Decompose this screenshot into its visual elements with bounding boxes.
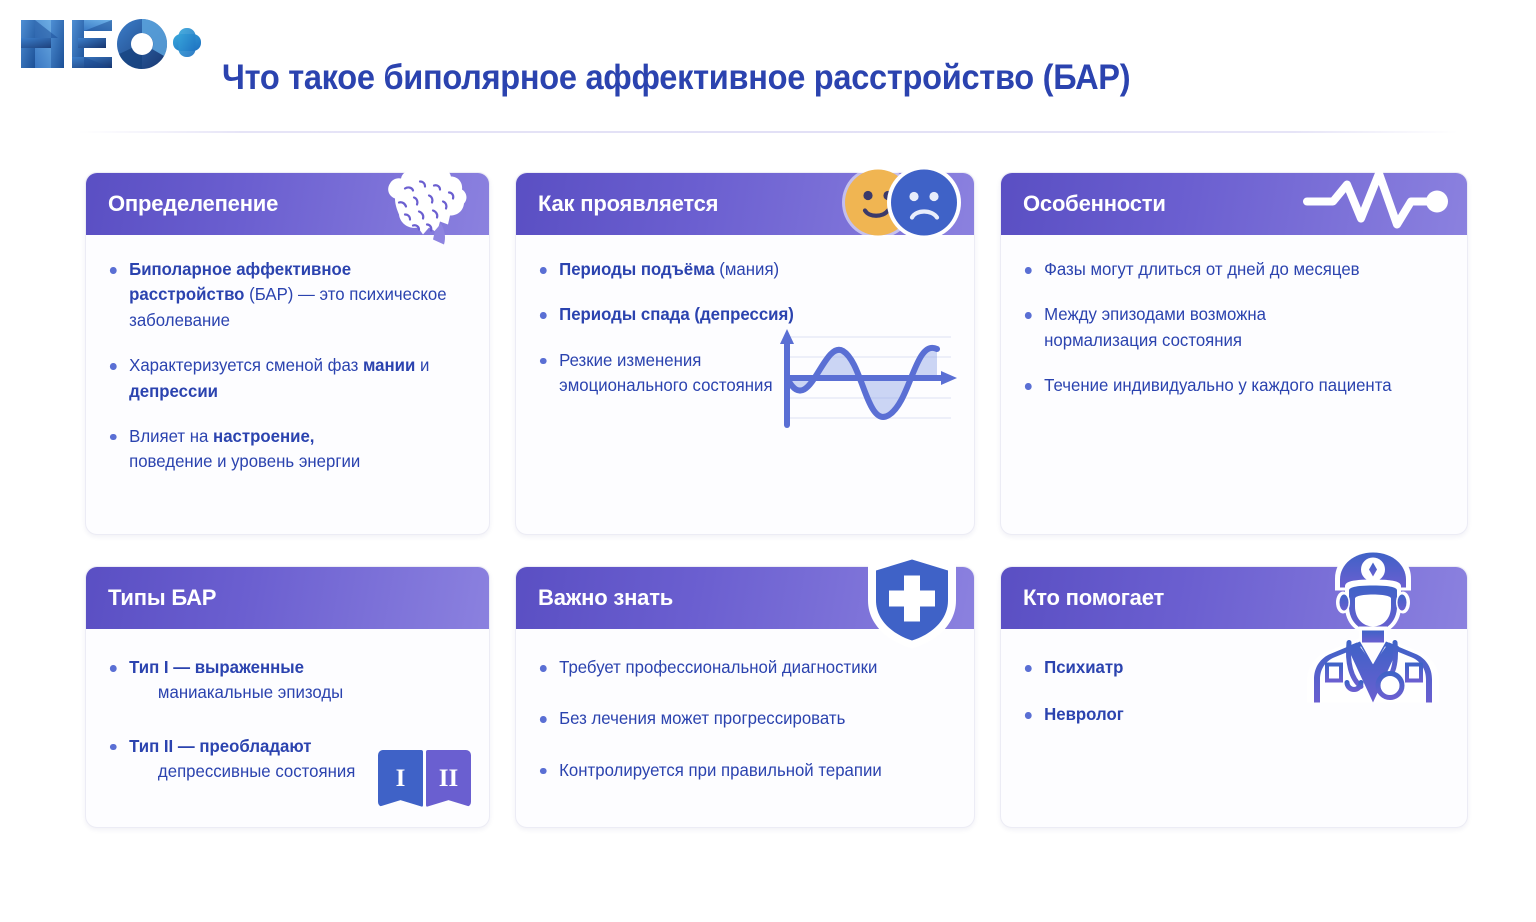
card-definition[interactable]: Определепение: [85, 172, 490, 535]
types-b2-bold: Тип II — преобладают: [129, 736, 311, 756]
list-item: Контролируется при правильной терапии: [538, 758, 937, 783]
definition-b2-pre: Характеризуется сменой фаз: [129, 355, 363, 375]
definition-bullet-list: Биполарное аффективное расстройство (БАР…: [108, 257, 469, 475]
list-item: Биполарное аффективное расстройство (БАР…: [108, 257, 455, 333]
list-item: Психиатр: [1023, 655, 1430, 680]
features-b1: Фазы могут длиться от дней до месяцев: [1044, 259, 1359, 279]
card-definition-title: Определепение: [108, 191, 278, 217]
definition-b3-tail: поведение и уровень энергии: [129, 451, 360, 471]
list-item: Характеризуется сменой фаз мании и депре…: [108, 353, 455, 404]
list-item: Тип I — выраженные маниакальные эпизоды: [108, 655, 455, 706]
card-types-header: Типы БАР: [86, 567, 489, 629]
page-title: Что такое биполярное аффективное расстро…: [222, 58, 1130, 98]
manifestation-b1-rest: (мания): [715, 259, 780, 279]
card-who-helps-header: Кто помогает: [1001, 567, 1467, 629]
card-types-title: Типы БАР: [108, 585, 216, 611]
type-badge-one: I: [378, 750, 423, 807]
list-item: Без лечения может прогрессировать: [538, 706, 937, 731]
features-b3: Течение индивидуально у каждого пациента: [1044, 375, 1391, 395]
list-item: Фазы могут длиться от дней до месяцев: [1023, 257, 1430, 282]
cards-grid: Определепение: [85, 172, 1457, 828]
card-who-helps-body: Психиатр Невролог: [1001, 629, 1467, 827]
card-important[interactable]: Важно знать Требует профессиональной диа…: [515, 566, 975, 828]
type-badge-two: II: [426, 750, 471, 807]
who-helps-bullet-list: Психиатр Невролог: [1023, 655, 1447, 728]
who-helps-b2: Невролог: [1044, 704, 1124, 724]
card-who-helps[interactable]: Кто помогает: [1000, 566, 1468, 828]
list-item: Между эпизодами возможна нормализация со…: [1023, 302, 1332, 353]
types-b1-bold: Тип I — выраженные: [129, 657, 304, 677]
card-manifestation[interactable]: Как проявляется Период: [515, 172, 975, 535]
heartbeat-line-icon: [1303, 169, 1453, 240]
list-item: Влияет на настроение,поведение и уровень…: [108, 424, 455, 475]
header-divider: [78, 131, 1458, 133]
mood-wave-chart-icon: [765, 325, 960, 438]
definition-b3-bold: настроение,: [213, 426, 314, 446]
card-manifestation-header: Как проявляется: [516, 173, 974, 235]
who-helps-b1: Психиатр: [1044, 657, 1123, 677]
list-item: Периоды подъёма (мания): [538, 257, 937, 282]
important-b2: Без лечения может прогрессировать: [559, 708, 845, 728]
definition-b2-mid: и: [415, 355, 429, 375]
card-manifestation-title: Как проявляется: [538, 191, 718, 217]
card-important-title: Важно знать: [538, 585, 673, 611]
card-important-header: Важно знать: [516, 567, 974, 629]
card-features-title: Особенности: [1023, 191, 1166, 217]
important-b1: Требует профессиональной диагностики: [559, 657, 877, 677]
card-definition-header: Определепение: [86, 173, 489, 235]
list-item: Невролог: [1023, 702, 1430, 727]
definition-b3-pre: Влияет на: [129, 426, 213, 446]
card-manifestation-body: Периоды подъёма (мания) Периоды спада (д…: [516, 235, 974, 534]
features-bullet-list: Фазы могут длиться от дней до месяцев Ме…: [1023, 257, 1447, 399]
list-item: Требует профессиональной диагностики: [538, 655, 937, 680]
manifestation-b3-plain: Резкие изменения эмоционального состояни…: [559, 350, 772, 395]
list-item: Периоды спада (депрессия): [538, 302, 937, 327]
manifestation-b2-bold: Периоды спада (депрессия): [559, 304, 794, 324]
card-features[interactable]: Особенности Фазы могут длиться от дней д…: [1000, 172, 1468, 535]
list-item: Течение индивидуально у каждого пациента: [1023, 373, 1430, 398]
neo-plus-logo: [18, 16, 203, 72]
type-badges: I II: [378, 750, 471, 807]
card-definition-body: Биполарное аффективное расстройство (БАР…: [86, 235, 489, 534]
card-important-body: Требует профессиональной диагностики Без…: [516, 629, 974, 827]
card-who-helps-title: Кто помогает: [1023, 585, 1164, 611]
types-b1-indent: маниакальные эпизоды: [129, 680, 454, 705]
important-bullet-list: Требует профессиональной диагностики Без…: [538, 655, 954, 783]
features-b2: Между эпизодами возможна нормализация со…: [1044, 304, 1266, 349]
card-types-body: Тип I — выраженные маниакальные эпизоды …: [86, 629, 489, 827]
card-types[interactable]: Типы БАР Тип I — выраженные маниакальные…: [85, 566, 490, 828]
page-header: Что такое биполярное аффективное расстро…: [0, 0, 1536, 128]
manifestation-b1-bold: Периоды подъёма: [559, 259, 715, 279]
card-features-body: Фазы могут длиться от дней до месяцев Ме…: [1001, 235, 1467, 534]
definition-b2-bold2: депрессии: [129, 381, 218, 401]
important-b3: Контролируется при правильной терапии: [559, 760, 882, 780]
list-item: Резкие изменения эмоционального состояни…: [538, 348, 794, 399]
definition-b2-bold: мании: [363, 355, 415, 375]
card-features-header: Особенности: [1001, 173, 1467, 235]
